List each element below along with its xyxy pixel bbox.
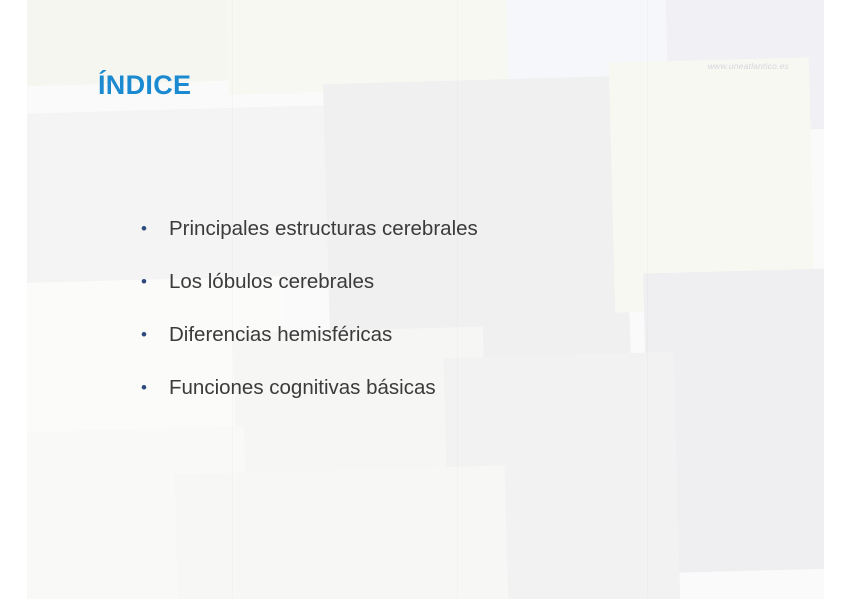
list-item[interactable]: • Funciones cognitivas básicas — [137, 374, 757, 427]
bullet-point-icon: • — [137, 268, 169, 296]
list-item[interactable]: • Diferencias hemisféricas — [137, 321, 757, 374]
list-item-label: Diferencias hemisféricas — [169, 321, 392, 349]
bullet-point-icon: • — [137, 321, 169, 349]
page-title: ÍNDICE — [98, 70, 191, 101]
list-item-label: Los lóbulos cerebrales — [169, 268, 374, 296]
list-item[interactable]: • Los lóbulos cerebrales — [137, 268, 757, 321]
list-item[interactable]: • Principales estructuras cerebrales — [137, 215, 757, 268]
slide-canvas: ÍNDICE www.uneatlantico.es • Principales… — [27, 0, 824, 599]
site-watermark: www.uneatlantico.es — [708, 61, 789, 71]
list-item-label: Principales estructuras cerebrales — [169, 215, 478, 243]
presentation-slide: ÍNDICE www.uneatlantico.es • Principales… — [0, 0, 848, 599]
bullet-point-icon: • — [137, 215, 169, 243]
list-item-label: Funciones cognitivas básicas — [169, 374, 436, 402]
bg-panel-light-bottom — [175, 465, 510, 599]
index-bullet-list: • Principales estructuras cerebrales • L… — [137, 215, 757, 427]
bullet-point-icon: • — [137, 374, 169, 402]
